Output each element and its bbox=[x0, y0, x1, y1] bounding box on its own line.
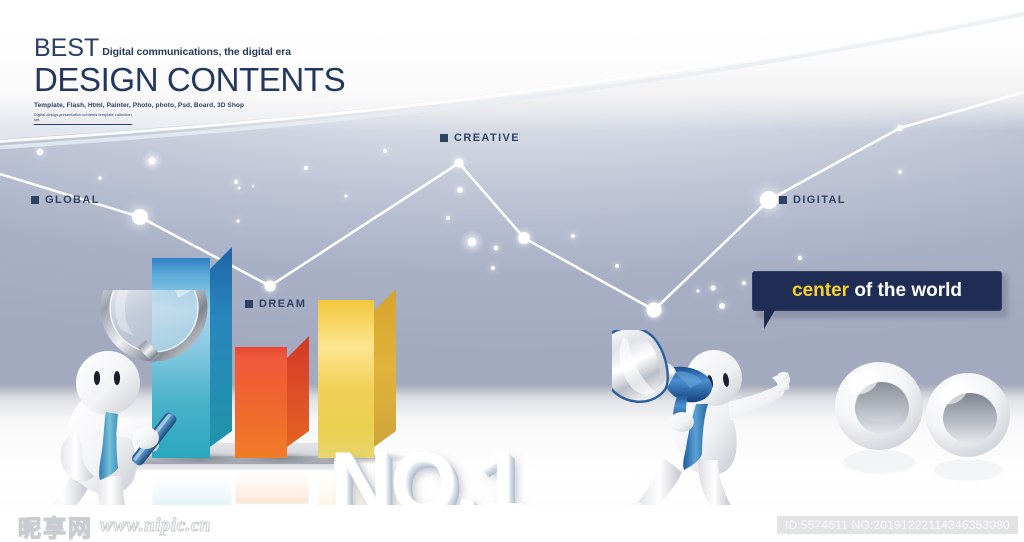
node-label-global: GLOBAL bbox=[31, 194, 100, 206]
bullet-square-icon bbox=[245, 300, 253, 308]
image-id-tag: ID:5574611 NO:20191222114346353080 bbox=[777, 516, 1018, 534]
speech-bubble-tail bbox=[764, 310, 786, 329]
figure-magnifier-man bbox=[34, 290, 224, 530]
speech-bubble-highlight: center bbox=[792, 280, 849, 301]
watermark-logo-text: 昵享网 bbox=[18, 509, 93, 542]
figure-megaphone-man bbox=[612, 330, 792, 525]
node-label-dream-text: DREAM bbox=[259, 298, 306, 310]
bullet-square-icon bbox=[779, 196, 787, 204]
node-label-digital: DIGITAL bbox=[779, 194, 846, 206]
speech-bubble: center of the world bbox=[752, 271, 1002, 311]
bullet-square-icon bbox=[31, 196, 39, 204]
headline-tagline: Digital communications, the digital era bbox=[102, 45, 291, 61]
decorative-ring-right bbox=[925, 370, 1013, 498]
page-title: DESIGN CONTENTS bbox=[34, 62, 364, 98]
watermark-url: www.nipic.cn bbox=[100, 515, 211, 537]
decorative-ring-left bbox=[833, 358, 925, 488]
headline-best: BEST bbox=[34, 36, 99, 61]
speech-bubble-body: center of the world bbox=[752, 271, 1002, 311]
node-label-global-text: GLOBAL bbox=[45, 194, 100, 206]
headline-keywords: Template, Flash, Html, Painter, Photo, p… bbox=[34, 101, 364, 110]
node-label-creative: CREATIVE bbox=[440, 132, 520, 144]
bullet-square-icon bbox=[440, 134, 448, 142]
headline-fine-print: Digital design presentation contents tem… bbox=[34, 112, 132, 125]
node-label-dream: DREAM bbox=[245, 298, 306, 310]
bar-side-face bbox=[374, 289, 396, 447]
node-label-digital-text: DIGITAL bbox=[793, 194, 846, 206]
speech-bubble-rest: of the world bbox=[849, 280, 962, 301]
node-label-creative-text: CREATIVE bbox=[454, 132, 520, 144]
bar-front-face bbox=[235, 347, 287, 458]
footer-bar: 昵享网 www.nipic.cn ID:5574611 NO:201912221… bbox=[0, 505, 1024, 542]
watermark: 昵享网 www.nipic.cn bbox=[18, 509, 211, 542]
headline-block: BEST Digital communications, the digital… bbox=[34, 36, 364, 125]
bar-dream bbox=[235, 347, 287, 458]
poster-canvas: BEST Digital communications, the digital… bbox=[0, 0, 1024, 542]
